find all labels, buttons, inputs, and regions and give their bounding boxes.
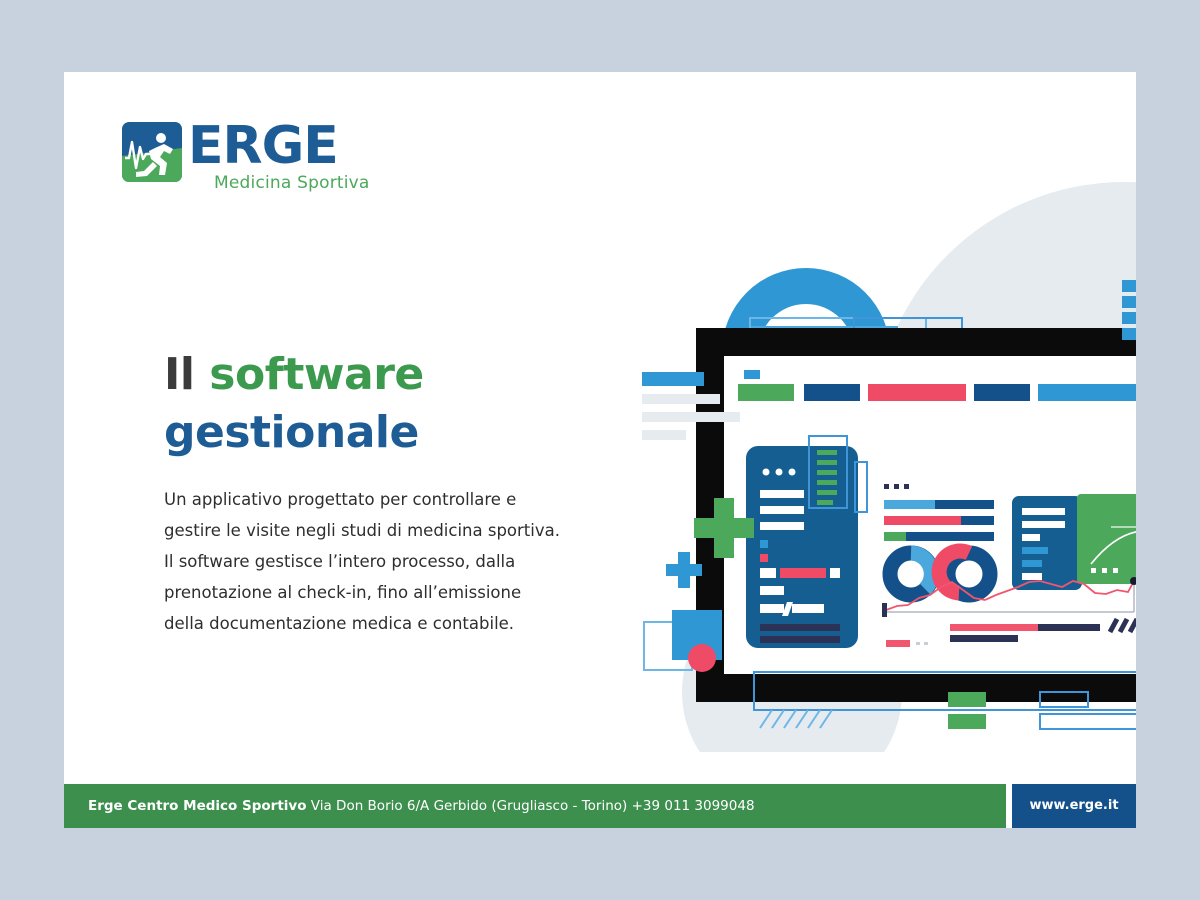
topright-bar-3: [1122, 312, 1136, 324]
topbar-tag-1: [738, 384, 794, 401]
footer-company-name: Erge Centro Medico Sportivo: [88, 798, 307, 814]
running-figure-ekg-icon: [122, 122, 182, 182]
progress-fill-2: [884, 516, 961, 525]
topbar-tag-2: [804, 384, 860, 401]
headline-part-3: gestionale: [164, 407, 419, 458]
bottom-outline-2: [1040, 714, 1136, 729]
footer-bar: Erge Centro Medico Sportivo Via Don Bori…: [64, 784, 1136, 828]
topright-bar-4: [1122, 328, 1136, 340]
footer-website-label: www.erge.it: [1012, 784, 1136, 828]
headline-part-2: software: [209, 349, 423, 400]
dashboard-illustration: 5,437: [564, 132, 1136, 752]
bottom-green-1: [948, 692, 986, 707]
topright-bar-2: [1122, 296, 1136, 308]
progress-fill-1: [884, 500, 935, 509]
headline-part-1: Il: [164, 349, 209, 400]
topbar-tag-3: [868, 384, 966, 401]
slide-card: 5,437: [64, 72, 1136, 828]
footer-contact-text: Erge Centro Medico Sportivo Via Don Bori…: [88, 784, 755, 828]
progress-fill-3: [884, 532, 906, 541]
footer-address: Via Don Borio 6/A Gerbido (Grugliasco - …: [307, 798, 755, 814]
footer-website-button[interactable]: www.erge.it: [1012, 784, 1136, 828]
tag-marker: [744, 370, 760, 379]
logo[interactable]: ERGE Medicina Sportiva: [122, 122, 422, 202]
side-bar-blue: [642, 372, 704, 386]
topbar-tag-5: [1038, 384, 1136, 401]
logo-brand-name: ERGE: [188, 120, 370, 172]
footer-contact-band: Erge Centro Medico Sportivo Via Don Bori…: [64, 784, 1006, 828]
logo-tagline: Medicina Sportiva: [214, 173, 370, 193]
pink-dot: [688, 644, 716, 672]
body-paragraph: Un applicativo progettato per controllar…: [164, 484, 564, 639]
page-title: Il software gestionale: [164, 346, 584, 462]
topbar-tag-4: [974, 384, 1030, 401]
logo-text: ERGE Medicina Sportiva: [188, 120, 370, 193]
topright-bar-1: [1122, 280, 1136, 292]
bottom-green-2: [948, 714, 986, 729]
